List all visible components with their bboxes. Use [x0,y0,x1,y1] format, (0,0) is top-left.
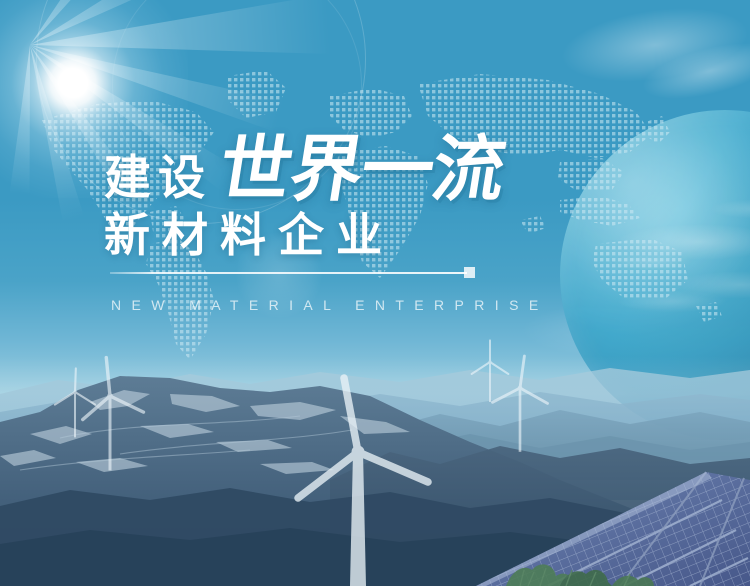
hero-banner: 建设 世界一流 新材料企业 NEW MATERIAL ENTERPRISE [0,0,750,586]
landscape-scene [0,330,750,586]
